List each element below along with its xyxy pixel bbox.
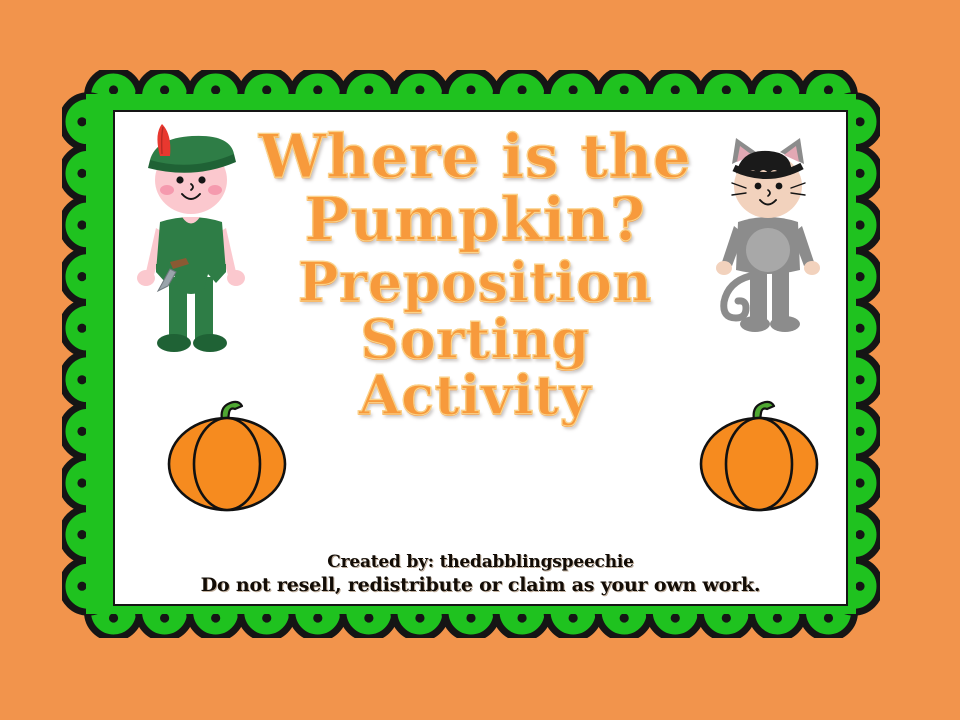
credit-author: Created by: thedabblingspeechie — [113, 552, 848, 572]
frame-dot — [466, 613, 475, 622]
frame-dot — [855, 117, 864, 126]
frame-dot — [620, 613, 629, 622]
frame-dot — [364, 613, 373, 622]
frame-dot — [773, 85, 782, 94]
frame-dot — [160, 613, 169, 622]
frame-dot — [855, 220, 864, 229]
poster-canvas: Where is the Pumpkin? Preposition Sortin… — [0, 0, 960, 720]
frame-dot — [313, 613, 322, 622]
frame-dot — [671, 85, 680, 94]
frame-dot — [313, 85, 322, 94]
frame-dot — [855, 530, 864, 539]
frame-dot — [855, 375, 864, 384]
frame-dot — [211, 613, 220, 622]
frame-dot — [620, 85, 629, 94]
frame-dot — [77, 272, 86, 281]
frame-dot — [824, 85, 833, 94]
frame-dot — [77, 582, 86, 591]
frame-dot — [77, 324, 86, 333]
title-line-2: Pumpkin? — [215, 191, 735, 250]
frame-dot — [77, 427, 86, 436]
frame-dot — [569, 613, 578, 622]
frame-dot — [855, 272, 864, 281]
frame-dot — [855, 427, 864, 436]
frame-dot — [517, 85, 526, 94]
frame-dot — [77, 478, 86, 487]
frame-dot — [77, 375, 86, 384]
frame-dot — [364, 85, 373, 94]
frame-dot — [855, 582, 864, 591]
frame-dot — [109, 85, 118, 94]
title-line-4: Sorting — [215, 313, 735, 366]
frame-dot — [262, 85, 271, 94]
frame-dot — [415, 613, 424, 622]
frame-dot — [77, 117, 86, 126]
frame-dot — [211, 85, 220, 94]
frame-dot — [722, 613, 731, 622]
frame-dot — [517, 613, 526, 622]
frame-dot — [569, 85, 578, 94]
title-line-3: Preposition — [215, 256, 735, 309]
credit-terms: Do not resell, redistribute or claim as … — [113, 574, 848, 596]
frame-dot — [77, 169, 86, 178]
frame-dot — [262, 613, 271, 622]
credits-block: Created by: thedabblingspeechie Do not r… — [113, 552, 848, 596]
frame-dot — [855, 478, 864, 487]
poster-title: Where is the Pumpkin? Preposition Sortin… — [215, 128, 735, 422]
frame-dot — [415, 85, 424, 94]
frame-dot — [466, 85, 475, 94]
frame-dot — [855, 169, 864, 178]
frame-dot — [109, 613, 118, 622]
frame-dot — [722, 85, 731, 94]
title-line-5: Activity — [215, 369, 735, 422]
frame-dot — [824, 613, 833, 622]
frame-dot — [77, 220, 86, 229]
frame-dot — [671, 613, 680, 622]
title-line-1: Where is the — [215, 128, 735, 187]
frame-dot — [77, 530, 86, 539]
frame-dot — [160, 85, 169, 94]
frame-dot — [773, 613, 782, 622]
frame-dot — [855, 324, 864, 333]
